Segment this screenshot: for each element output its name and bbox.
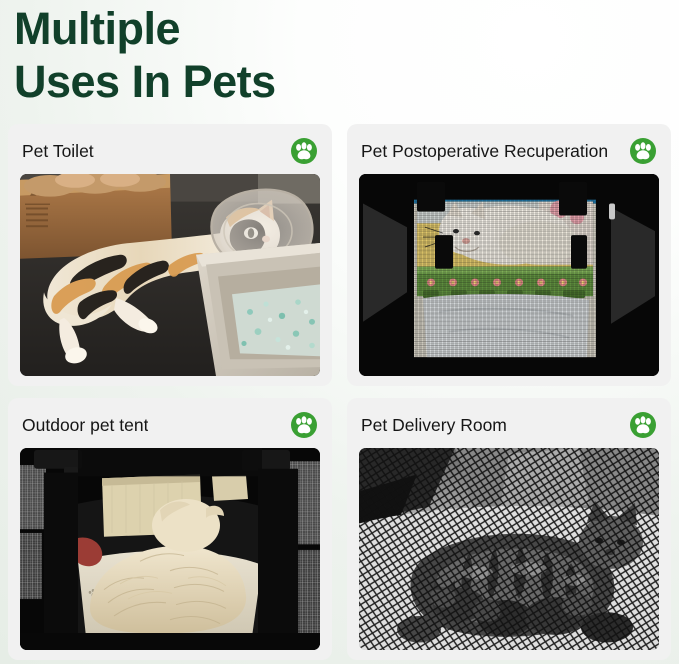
photo-pet-toilet	[20, 174, 320, 376]
card-title: Pet Toilet	[22, 141, 94, 161]
page-title: Multiple Uses In Pets	[8, 0, 671, 108]
use-case-card-pet-toilet: Pet Toilet	[8, 124, 332, 386]
photo-pet-postoperative-recuperation: cabin	[359, 174, 659, 376]
card-header: Pet Toilet	[20, 133, 320, 169]
use-case-grid: Pet Toilet	[8, 124, 671, 660]
photo-pet-delivery-room	[359, 448, 659, 650]
card-header: Pet Delivery Room	[359, 407, 659, 443]
card-header: Pet Postoperative Recuperation	[359, 133, 659, 169]
card-title: Outdoor pet tent	[22, 415, 148, 435]
paw-icon	[290, 137, 318, 165]
card-title: Pet Postoperative Recuperation	[361, 141, 608, 161]
use-case-card-pet-postoperative-recuperation: Pet Postoperative Recuperation	[347, 124, 671, 386]
paw-icon	[290, 411, 318, 439]
card-header: Outdoor pet tent	[20, 407, 320, 443]
page-title-line-1: Multiple	[14, 0, 665, 55]
use-case-card-pet-delivery-room: Pet Delivery Room	[347, 398, 671, 660]
paw-icon	[629, 411, 657, 439]
photo-outdoor-pet-tent	[20, 448, 320, 650]
page-title-line-2: Uses In Pets	[14, 55, 665, 108]
paw-icon	[629, 137, 657, 165]
promo-page: Multiple Uses In Pets Pet Toilet	[0, 0, 679, 664]
card-title: Pet Delivery Room	[361, 415, 507, 435]
use-case-card-outdoor-pet-tent: Outdoor pet tent	[8, 398, 332, 660]
